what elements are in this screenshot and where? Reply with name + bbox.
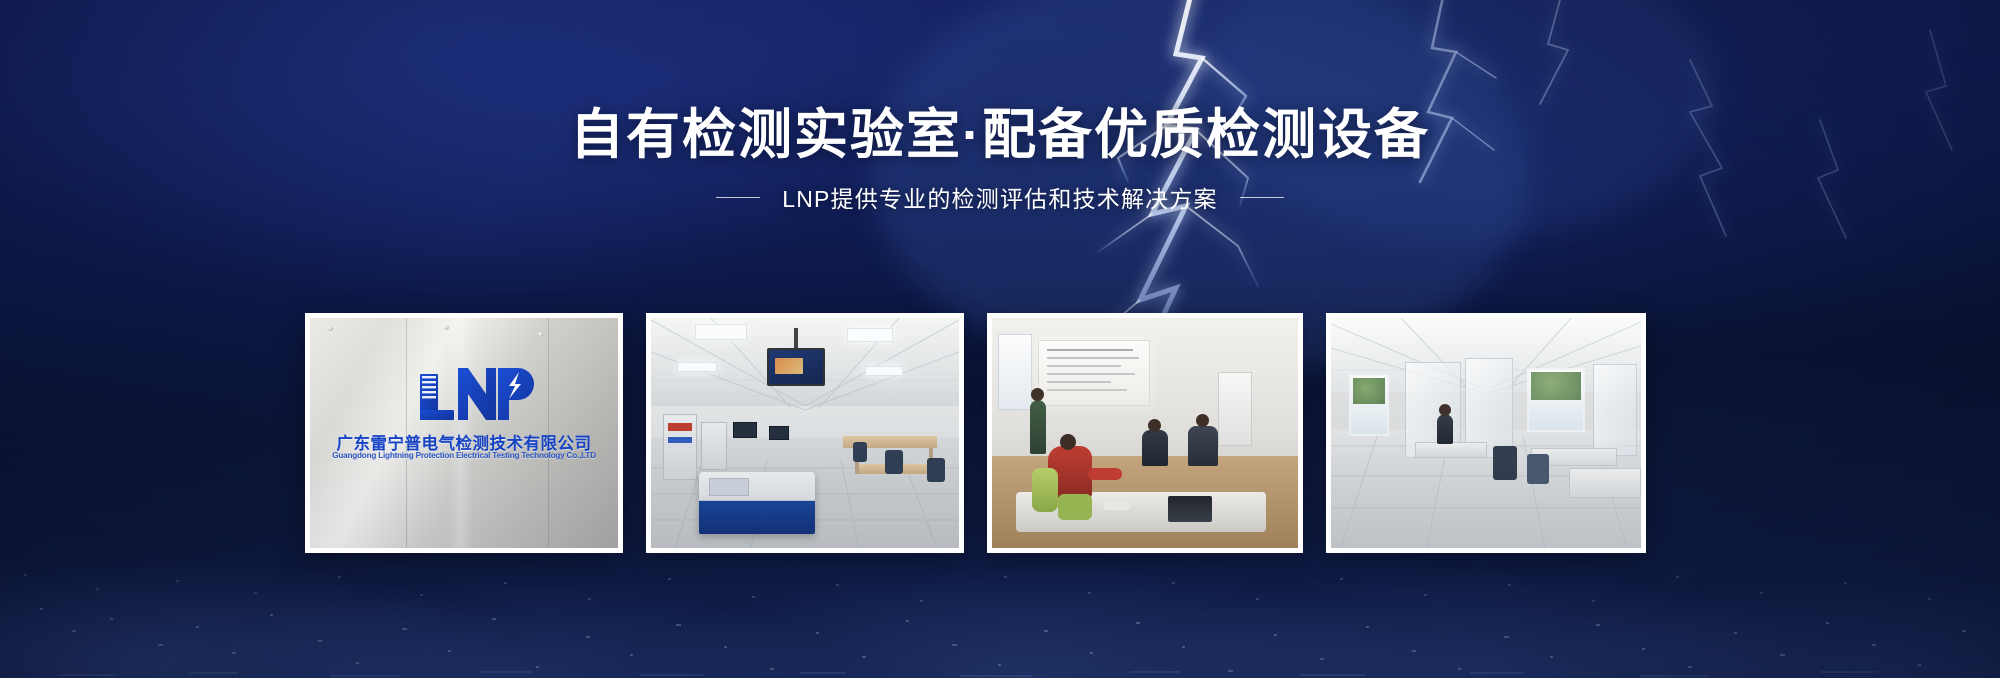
projection-screen — [1038, 340, 1150, 406]
page-title: 自有检测实验室·配备优质检测设备 — [0, 104, 2000, 166]
window-greenery — [1531, 372, 1581, 400]
photo-testing-laboratory[interactable] — [646, 313, 964, 553]
office-desk — [1415, 442, 1487, 458]
person-presenter — [1030, 400, 1046, 454]
photo-strip: 广东雷宁普电气检测技术有限公司 Guangdong Lightning Prot… — [305, 313, 1647, 553]
person-head — [1060, 434, 1076, 450]
person-working — [1437, 414, 1453, 444]
page-subtitle: LNP提供专业的检测评估和技术解决方案 — [782, 180, 1218, 214]
photo-lnp-signboard[interactable]: 广东雷宁普电气检测技术有限公司 Guangdong Lightning Prot… — [305, 313, 623, 553]
person-head — [1196, 414, 1209, 427]
headline-block: 自有检测实验室·配备优质检测设备 LNP提供专业的检测评估和技术解决方案 — [0, 104, 2000, 214]
rule-right-icon — [1240, 197, 1284, 198]
ceiling-light — [695, 324, 747, 340]
meeting-chair — [1058, 494, 1092, 520]
paper-document — [1104, 502, 1130, 510]
lab-chair — [927, 458, 945, 482]
company-name-en: Guangdong Lightning Protection Electrica… — [310, 451, 618, 460]
office-chair — [1527, 454, 1549, 484]
room-window — [998, 334, 1032, 410]
ceiling-light — [865, 366, 903, 376]
lnp-lightning-logo — [418, 364, 534, 426]
laptop — [1168, 496, 1212, 522]
wall-display — [767, 348, 825, 386]
test-console — [699, 472, 815, 534]
meeting-chair — [1032, 468, 1058, 512]
subtitle-row: LNP提供专业的检测评估和技术解决方案 — [0, 180, 2000, 214]
water-cooler — [1218, 372, 1252, 446]
lab-chair — [853, 442, 867, 462]
lab-cabinet — [663, 414, 697, 480]
lab-chair — [885, 450, 903, 474]
glass-partition — [1593, 364, 1637, 456]
photo-meeting-room[interactable] — [987, 313, 1303, 553]
ceiling-light — [847, 328, 893, 342]
lab-cabinet — [701, 422, 727, 470]
photo-office-area[interactable] — [1326, 313, 1646, 553]
window-greenery — [1353, 378, 1385, 404]
rule-left-icon — [716, 197, 760, 198]
reception-counter — [1569, 468, 1641, 498]
wall-fixing-icon — [328, 326, 333, 331]
person-arm — [1088, 468, 1122, 480]
person-seated — [1142, 430, 1168, 466]
wall-fixing-icon — [538, 332, 543, 337]
console-monitor — [769, 426, 789, 440]
office-chair — [1493, 446, 1517, 480]
person-seated — [1188, 426, 1218, 466]
wall-fixing-icon — [444, 325, 449, 330]
console-monitor — [733, 422, 757, 438]
ceiling-light — [677, 362, 717, 372]
person-head — [1148, 419, 1161, 432]
hero-banner: 自有检测实验室·配备优质检测设备 LNP提供专业的检测评估和技术解决方案 — [0, 0, 2000, 678]
person-head — [1031, 388, 1044, 401]
display-mount — [794, 328, 798, 350]
person-head — [1439, 404, 1451, 416]
